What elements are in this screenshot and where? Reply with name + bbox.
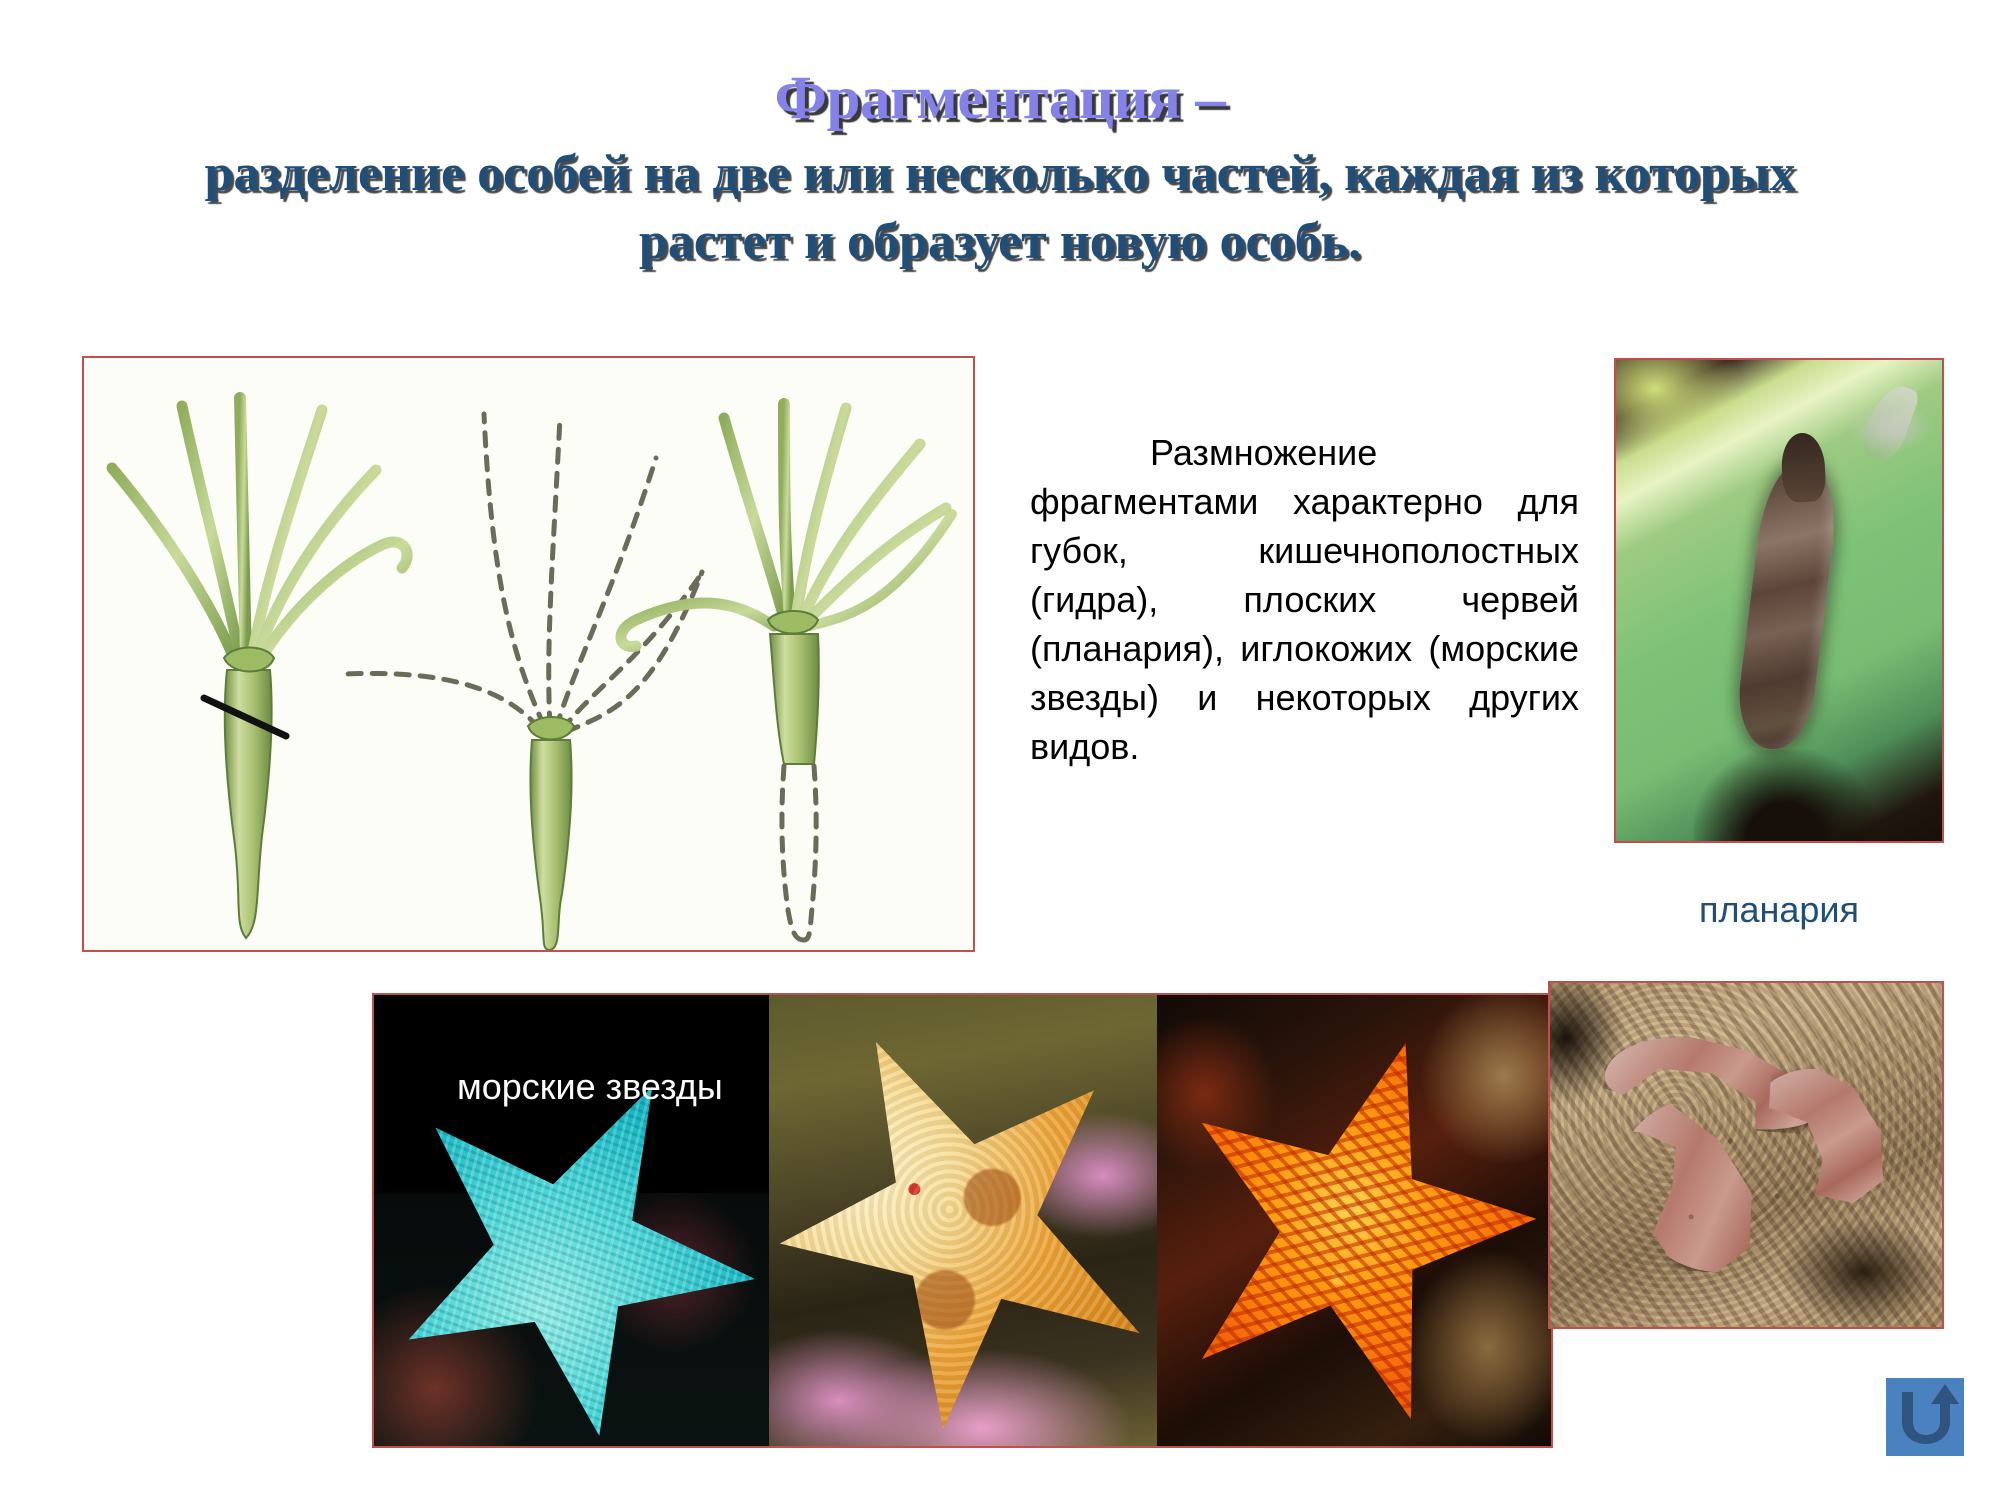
starfish-center-dot bbox=[1330, 1267, 1350, 1287]
hydra-illustration bbox=[84, 358, 973, 950]
hydra-specimen-3 bbox=[621, 404, 952, 940]
planaria-antenna bbox=[1858, 380, 1921, 466]
u-turn-arrow-icon bbox=[1886, 1378, 1964, 1456]
earthworm-photo bbox=[1548, 981, 1944, 1329]
hydra-specimen-1 bbox=[112, 398, 407, 938]
starfish-panel-orange-cream bbox=[769, 995, 1156, 1446]
soil-grit-overlay bbox=[1550, 983, 1942, 1327]
planaria-photo bbox=[1614, 358, 1944, 843]
hydra-svg bbox=[84, 358, 973, 950]
return-button[interactable] bbox=[1886, 1378, 1964, 1456]
starfish-panel-bright-orange bbox=[1157, 995, 1551, 1446]
earthworm-photo-content bbox=[1550, 983, 1942, 1327]
starfish-caption: морские звезды bbox=[457, 1060, 723, 1113]
planaria-caption: планария bbox=[1614, 889, 1944, 931]
hydra-specimen-2 bbox=[346, 414, 704, 950]
slide-title-block: Фрагментация – разделение особей на две … bbox=[0, 62, 2000, 276]
page-title: Фрагментация – bbox=[0, 62, 2000, 136]
planaria-body bbox=[1732, 458, 1842, 754]
page-subtitle: разделение особей на две или несколько ч… bbox=[0, 140, 2000, 276]
planaria-shadow bbox=[1694, 750, 1877, 841]
description-paragraph: Размножение фрагментами характерно для г… bbox=[1030, 428, 1579, 771]
planaria-photo-content bbox=[1616, 360, 1942, 841]
starfish-madreporite bbox=[906, 1181, 922, 1197]
hydra-fragmentation-figure bbox=[82, 356, 975, 952]
